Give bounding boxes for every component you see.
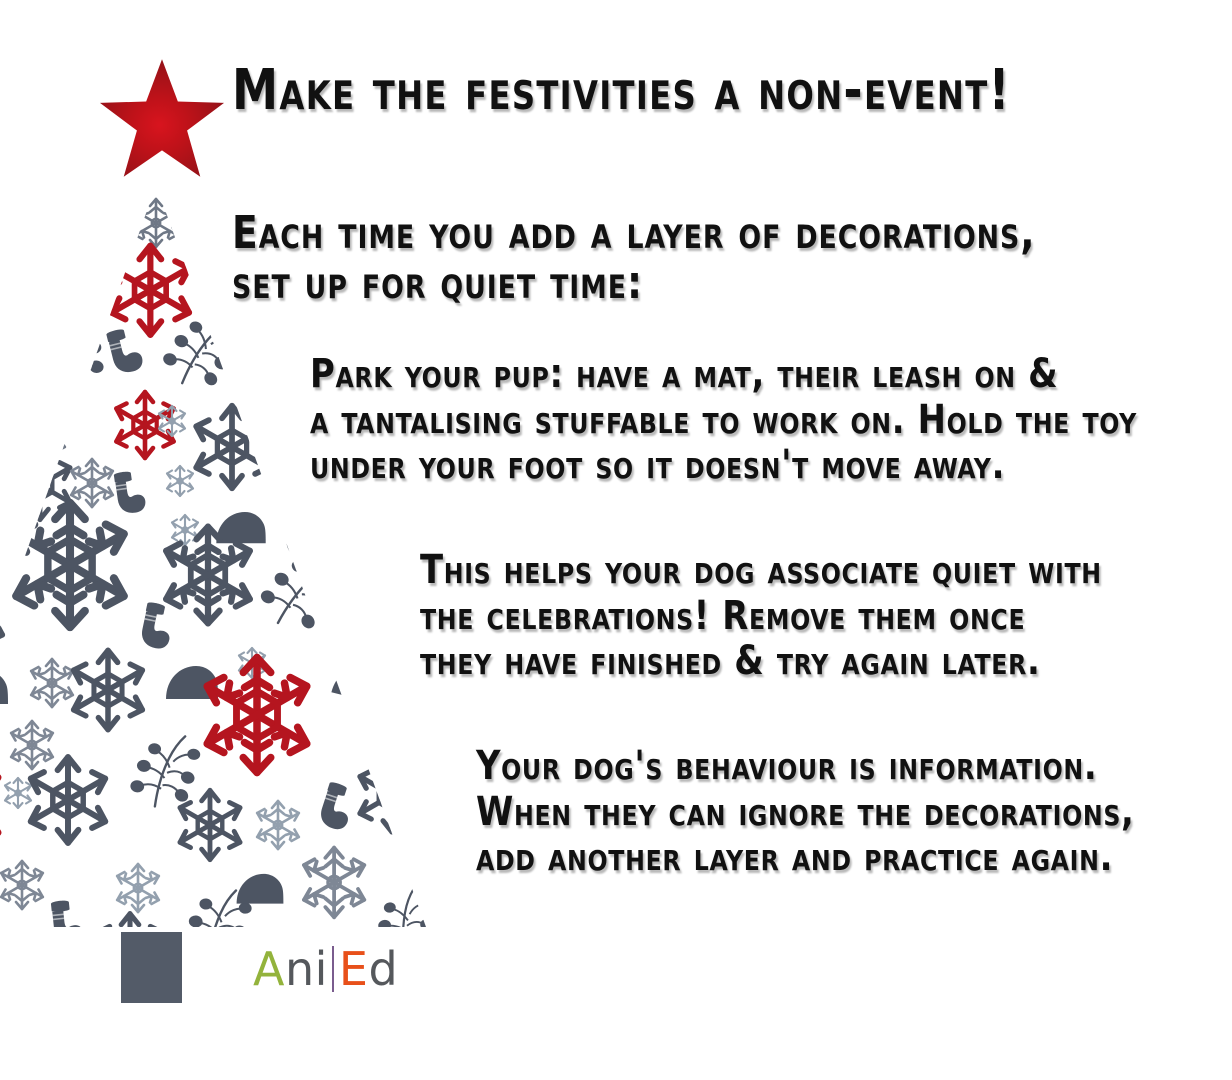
instruction-paragraph-4: Your dog's behaviour is information. Whe… [476,744,1181,881]
logo-divider-bar [332,946,334,992]
instruction-paragraph-3: This helps your dog associate quiet with… [420,548,1172,685]
tree-trunk [121,932,182,1003]
page-title: Make the festivities a non-event! [232,62,1134,119]
logo-letters-ni: ni [285,946,328,992]
poster-canvas: Make the festivities a non-event! Each t… [0,0,1232,1080]
aniEd-logo: A ni E d [253,943,398,995]
instruction-paragraph-2: Park your pup: have a mat, their leash o… [310,352,1184,489]
tree-motif-group [0,199,460,945]
instruction-paragraph-1: Each time you add a layer of decorations… [232,208,1125,309]
logo-letter-d: d [368,946,398,992]
logo-letter-e: E [339,946,369,992]
logo-letter-a: A [253,946,285,992]
star-icon [96,54,228,186]
